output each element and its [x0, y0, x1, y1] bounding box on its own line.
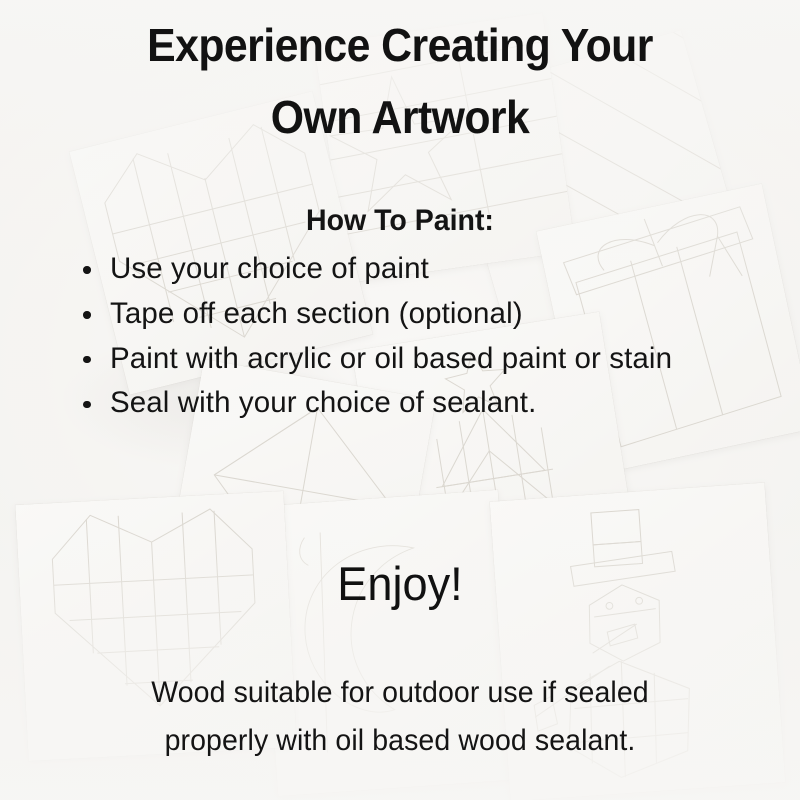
bullet-icon — [83, 356, 91, 364]
infographic-canvas: Experience Creating Your Own Artwork How… — [0, 0, 800, 800]
list-item: Seal with your choice of sealant. — [74, 382, 754, 425]
footer-line1: Wood suitable for outdoor use if sealed — [20, 678, 780, 708]
list-item-label: Paint with acrylic or oil based paint or… — [110, 342, 672, 375]
instructions-heading: How To Paint: — [20, 204, 780, 238]
page-title-line1: Experience Creating Your — [28, 22, 772, 68]
closing-exclamation: Enjoy! — [16, 556, 784, 611]
list-item-label: Tape off each section (optional) — [110, 297, 523, 330]
list-item: Tape off each section (optional) — [74, 293, 754, 336]
list-item-label: Use your choice of paint — [110, 252, 429, 285]
list-item: Paint with acrylic or oil based paint or… — [74, 338, 754, 381]
page-title-line2: Own Artwork — [28, 94, 772, 140]
footer-line2: properly with oil based wood sealant. — [20, 726, 780, 756]
list-item-label: Seal with your choice of sealant. — [110, 386, 536, 419]
list-item: Use your choice of paint — [74, 248, 754, 291]
instructions-list: Use your choice of paint Tape off each s… — [74, 248, 754, 427]
text-overlay: Experience Creating Your Own Artwork How… — [0, 0, 800, 800]
bullet-icon — [83, 311, 91, 319]
bullet-icon — [83, 401, 91, 409]
bullet-icon — [83, 266, 91, 274]
